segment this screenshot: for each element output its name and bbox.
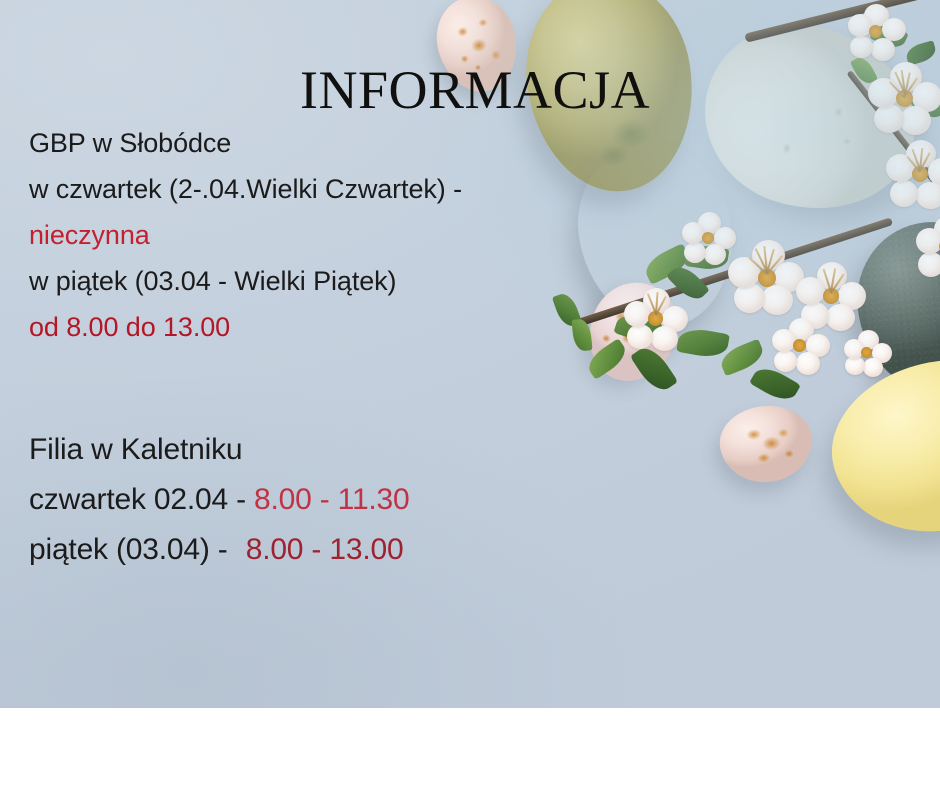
cherry-blossom-icon	[772, 318, 830, 376]
bottom-white-strip	[0, 708, 940, 788]
cherry-blossom-icon	[682, 212, 736, 266]
cherry-blossom-icon	[868, 62, 940, 136]
filia-heading: Filia w Kaletniku	[29, 425, 410, 475]
gbp-thursday-line: w czwartek (2-.04.Wielki Czwartek) -	[29, 166, 462, 212]
cherry-blossom-icon	[848, 4, 906, 62]
cherry-blossom-icon	[916, 216, 940, 280]
speckled-egg-bottom-icon	[716, 401, 815, 486]
filia-kaletnik-info-block: Filia w Kaletniku czwartek 02.04 - 8.00 …	[29, 425, 410, 575]
gbp-thursday-status: nieczynna	[29, 212, 462, 258]
filia-thursday-hours: 8.00 - 11.30	[254, 483, 410, 516]
filia-thursday-label: czwartek 02.04 -	[29, 483, 254, 516]
filia-thursday-row: czwartek 02.04 - 8.00 - 11.30	[29, 475, 410, 525]
gbp-location-line: GBP w Słobódce	[29, 120, 462, 166]
gbp-slobodka-info-block: GBP w Słobódce w czwartek (2-.04.Wielki …	[29, 120, 462, 350]
cherry-blossom-icon	[728, 240, 804, 316]
filia-friday-hours: 8.00 - 13.00	[246, 533, 404, 566]
gbp-friday-line: w piątek (03.04 - Wielki Piątek)	[29, 258, 462, 304]
gbp-friday-hours: od 8.00 do 13.00	[29, 304, 462, 350]
easter-information-poster: INFORMACJA GBP w Słobódce w czwartek (2-…	[0, 0, 940, 708]
filia-friday-row: piątek (03.04) - 8.00 - 13.00	[29, 525, 410, 575]
cherry-blossom-icon	[844, 330, 892, 378]
cherry-blossom-icon	[624, 288, 688, 352]
filia-friday-label: piątek (03.04) -	[29, 533, 236, 566]
cherry-blossom-icon	[886, 140, 940, 210]
page-title: INFORMACJA	[300, 59, 650, 121]
